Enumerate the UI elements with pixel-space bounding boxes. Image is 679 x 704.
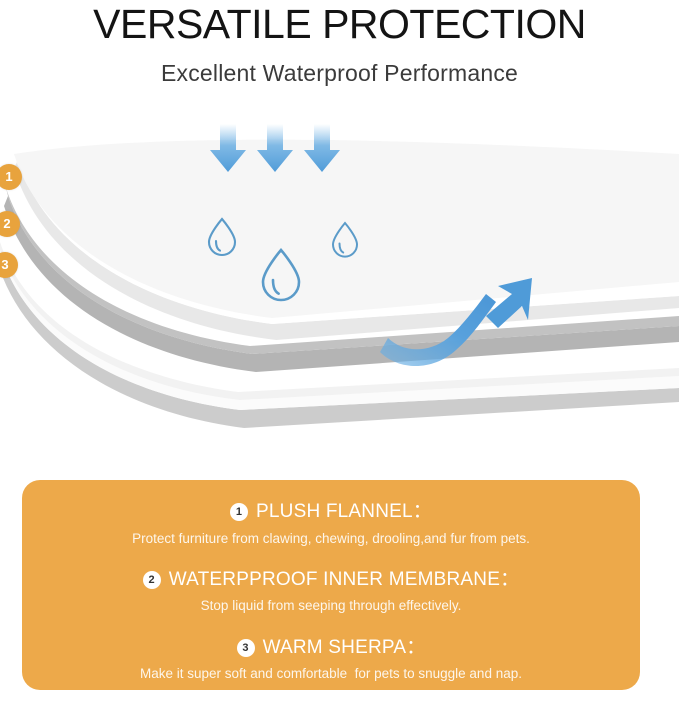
feature-item-plush-flannel: 1 PLUSH FLANNEL： Protect furniture from … [22,498,640,549]
layer-stack-illustration [0,110,679,450]
feature-description: Make it super soft and comfortable for p… [22,664,640,684]
feature-number-badge: 3 [237,639,255,657]
feature-number-badge: 1 [230,503,248,521]
spacer [22,621,640,634]
feature-description: Protect furniture from clawing, chewing,… [22,529,640,549]
header: VERSATILE PROTECTION Excellent Waterproo… [0,0,679,87]
feature-heading-label: WARM SHERPA： [263,634,426,663]
page-title: VERSATILE PROTECTION [0,0,679,48]
water-down-arrows [210,124,340,172]
feature-description: Stop liquid from seeping through effecti… [22,596,640,616]
feature-heading: 1 PLUSH FLANNEL： [22,498,640,527]
layer-diagram: 1 2 3 [0,110,679,450]
feature-panel: 1 PLUSH FLANNEL： Protect furniture from … [22,480,640,690]
feature-number-badge: 2 [143,571,161,589]
feature-heading: 3 WARM SHERPA： [22,634,640,663]
spacer [22,553,640,566]
feature-heading: 2 WATERPPROOF INNER MEMBRANE： [22,566,640,595]
feature-heading-label: PLUSH FLANNEL： [256,498,432,527]
feature-item-waterproof-membrane: 2 WATERPPROOF INNER MEMBRANE： Stop liqui… [22,566,640,617]
feature-heading-label: WATERPPROOF INNER MEMBRANE： [169,566,520,595]
page-subtitle: Excellent Waterproof Performance [0,48,679,87]
feature-item-warm-sherpa: 3 WARM SHERPA： Make it super soft and co… [22,634,640,685]
